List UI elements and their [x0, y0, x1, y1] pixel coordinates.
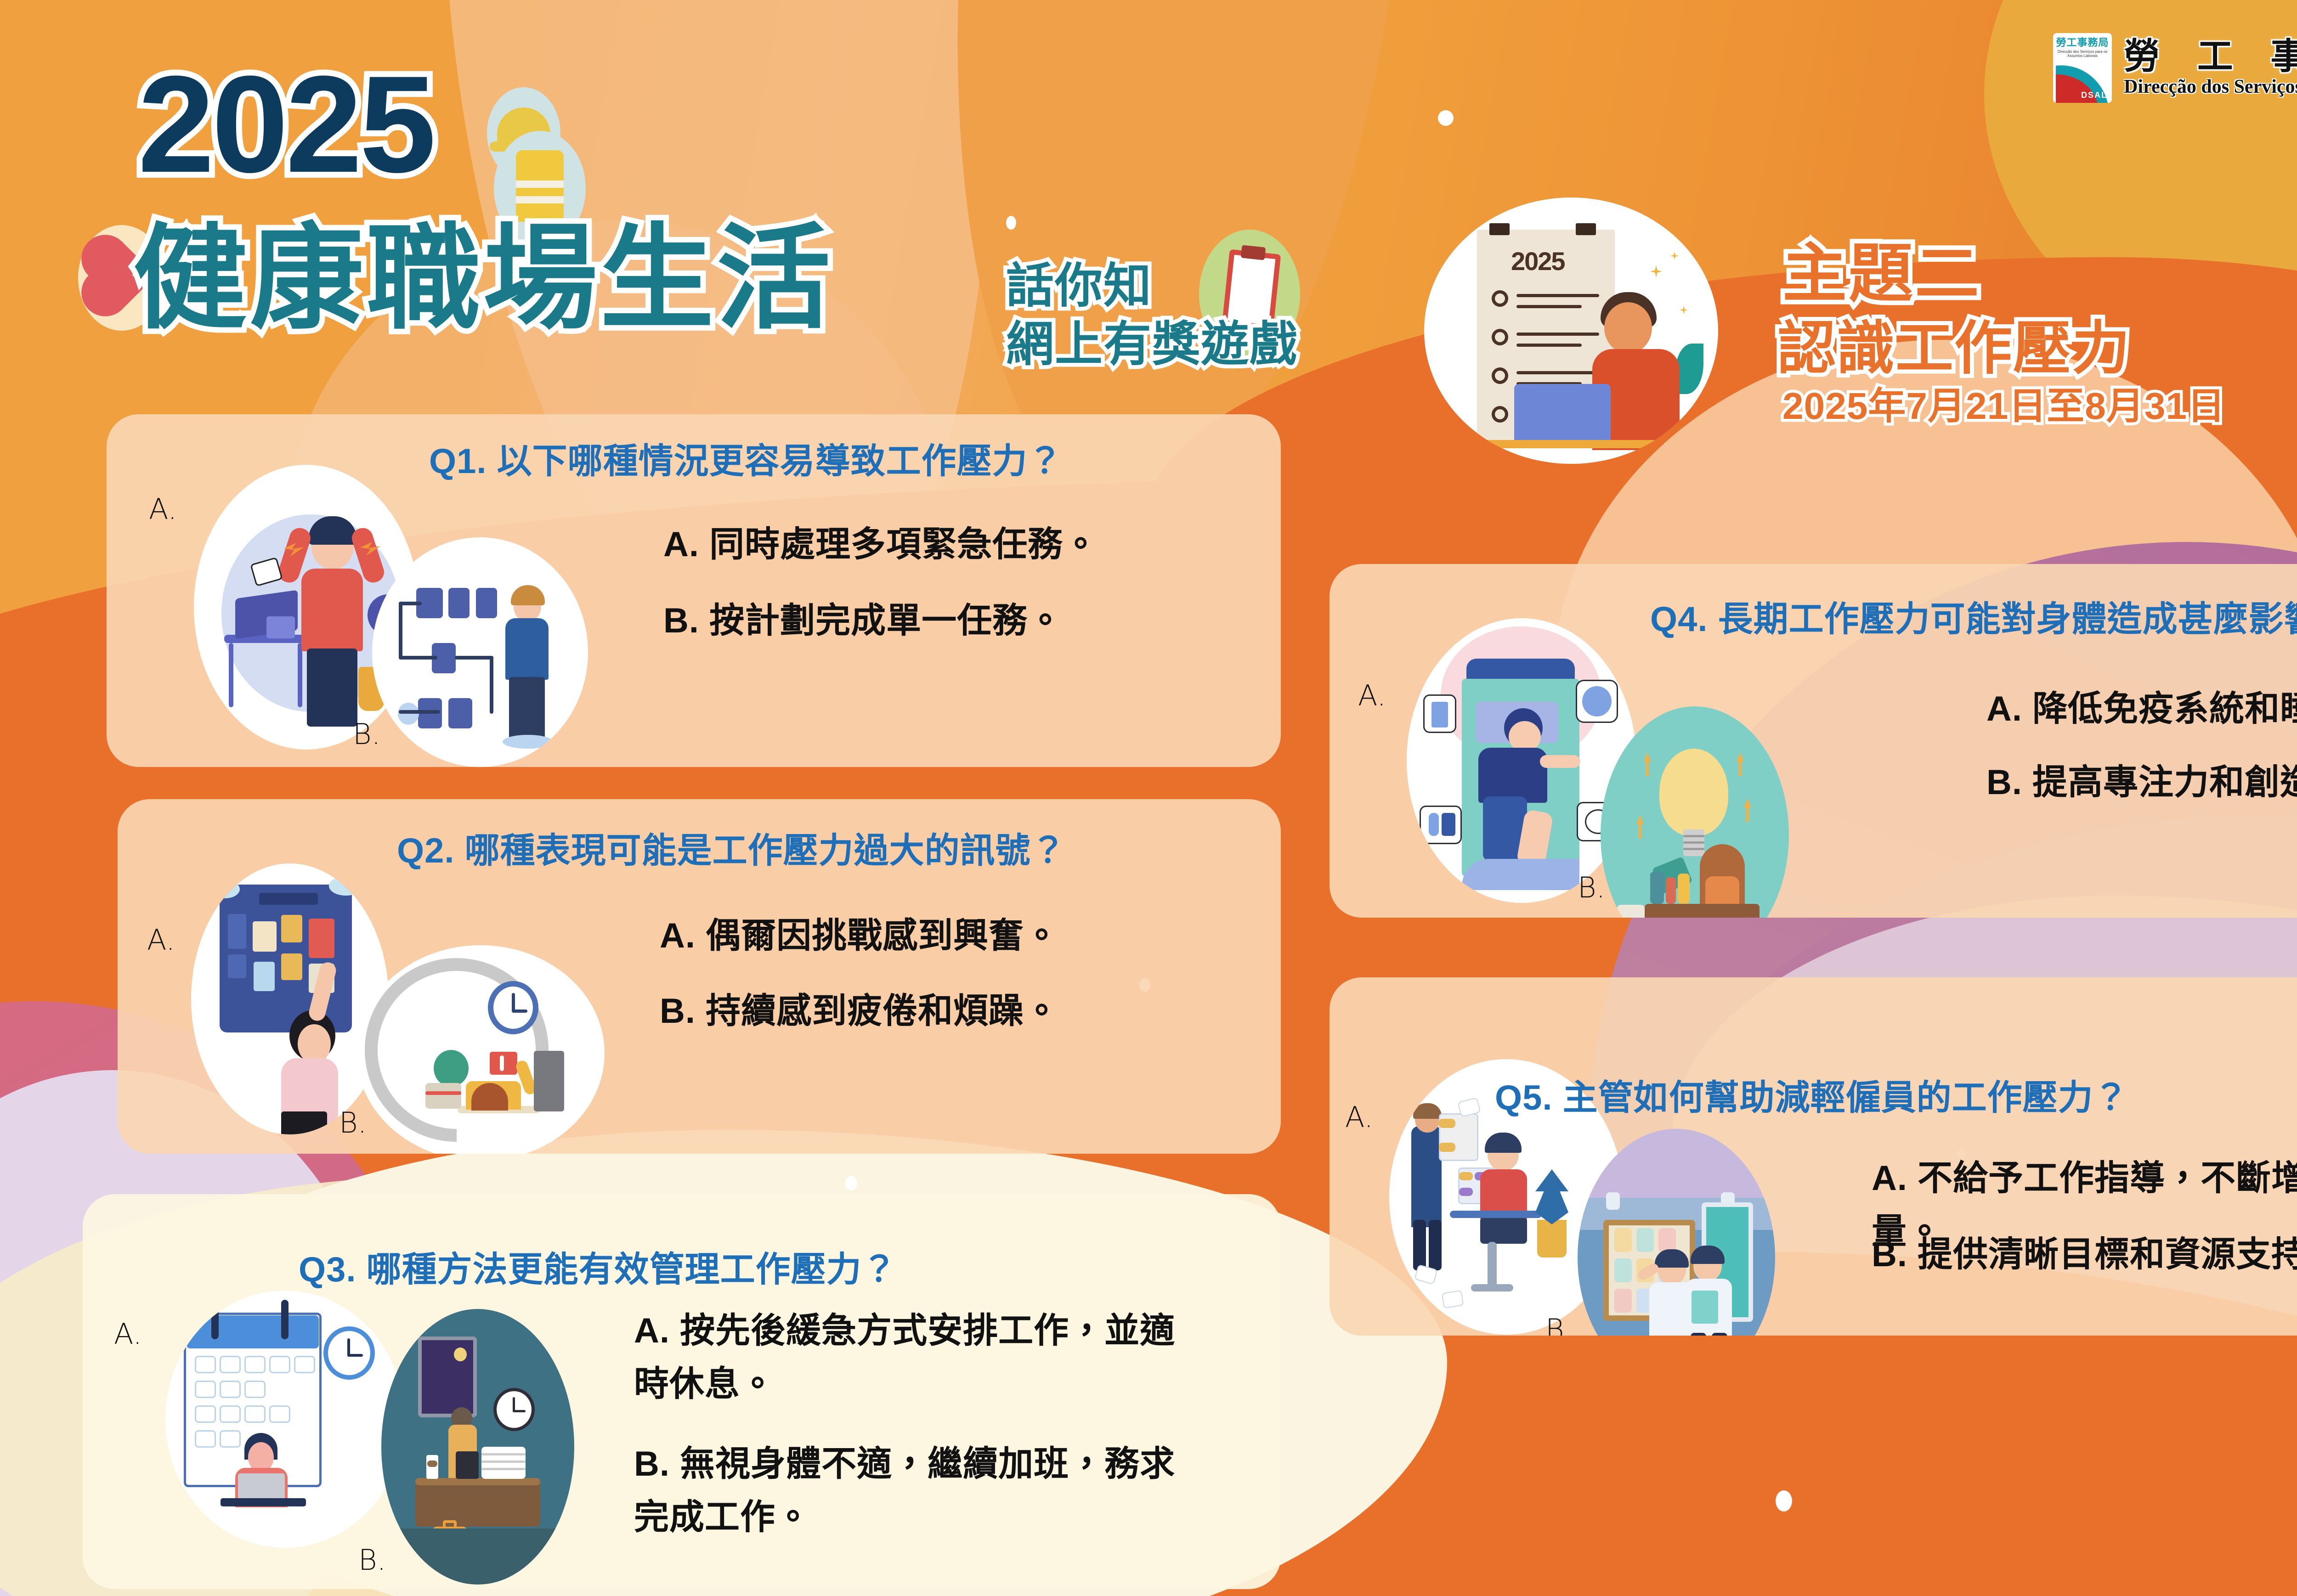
dsal-mark-pt: Direcção dos Serviços para os Assuntos L… — [2056, 50, 2109, 58]
q1-answer-a: A. 同時處理多項緊急任務。 — [663, 518, 1098, 571]
q1-option-b-illustration — [372, 537, 588, 767]
q3-answer-b: B. 無視身體不適，繼續加班，務求完成工作。 — [634, 1438, 1204, 1544]
q4-option-a-label: A. — [1358, 679, 1386, 712]
decor-dot — [1006, 216, 1016, 230]
q4-answer-b: B. 提高專注力和創造力。 — [1986, 756, 2297, 809]
year-title: 2025 — [138, 55, 433, 193]
q4-option-b-label: B. — [1578, 871, 1605, 904]
q2-option-a-label: A. — [147, 923, 175, 957]
question-card-q3: A. B. Q3. 哪種方法更能有效管理工作壓力？ A. 按先後緩急方式安排工作… — [83, 1194, 1281, 1589]
q3-option-b-label: B. — [358, 1543, 386, 1577]
q2-answer-b: B. 持續感到疲倦和煩躁。 — [660, 985, 1059, 1038]
checklist-year: 2025 — [1511, 246, 1565, 276]
dsal-mark-zh: 勞工事務局 — [2056, 38, 2109, 48]
theme-label: 主題二 — [1782, 239, 1981, 308]
dsal-logo-block: 勞工事務局 Direcção dos Serviços para os Assu… — [2053, 33, 2297, 103]
question-card-q1: A. B. Q1. 以下哪種情況更容易導致工作壓力？ A. 同時處理多項緊急任務… — [107, 414, 1281, 767]
title-subtitle-line2: 網上有獎遊戲 — [1006, 316, 1298, 374]
title-subtitle-line1: 話你知 — [1006, 257, 1298, 316]
q5-option-b-illustration — [1578, 1129, 1775, 1336]
q3-option-a-illustration — [165, 1291, 404, 1548]
q2-option-b-label: B. — [339, 1106, 367, 1139]
q2-option-a-illustration — [191, 863, 389, 1134]
q5-heading: Q5. 主管如何幫助減輕僱員的工作壓力？ — [1495, 1069, 2129, 1120]
dsal-logo-mark: 勞工事務局 Direcção dos Serviços para os Assu… — [2053, 33, 2112, 103]
poster-root: 勞工事務局 Direcção dos Serviços para os Assu… — [0, 0, 2297, 1596]
q4-heading: Q4. 長期工作壓力可能對身體造成甚麼影響？ — [1650, 591, 2297, 641]
decor-dot — [1776, 1490, 1792, 1511]
q5-option-b-label: B. — [1545, 1313, 1573, 1336]
dsal-logo-text: 勞 工 事 務 局 Direcção dos Serviços para os … — [2124, 38, 2297, 98]
hero-illustration: 2025 — [1424, 197, 1718, 464]
question-card-q2: A. B. Q2. 哪種表現可能是工作壓力過大的訊號？ A. 偶爾因挑戰感到興奮… — [118, 799, 1281, 1154]
q5-option-a-label: A. — [1345, 1100, 1373, 1134]
theme-name: 認識工作壓力 — [1778, 317, 2131, 381]
q4-answer-a: A. 降低免疫系統和睡眠品質。 — [1986, 682, 2297, 736]
q2-answer-a: A. 偶爾因挑戰感到興奮。 — [660, 909, 1059, 963]
decor-dot — [1438, 110, 1454, 126]
q2-option-b-illustration — [356, 945, 605, 1154]
q1-heading: Q1. 以下哪種情況更容易導致工作壓力？ — [429, 433, 1063, 483]
org-name-pt: Direcção dos Serviços para os Assuntos L… — [2124, 76, 2297, 98]
decor-dot — [845, 1176, 857, 1190]
title-subtitle: 話你知 網上有獎遊戲 — [1006, 257, 1298, 374]
theme-period: 2025年7月21日至8月31日 — [1782, 386, 2225, 427]
q5-answer-b: B. 提供清晰目標和資源支持。 — [1872, 1228, 2297, 1281]
q1-option-b-label: B. — [353, 717, 380, 751]
q2-heading: Q2. 哪種表現可能是工作壓力過大的訊號？ — [397, 822, 1066, 873]
q3-option-b-illustration — [381, 1309, 574, 1585]
q1-option-a-label: A. — [149, 492, 177, 526]
q1-answer-b: B. 按計劃完成單一任務。 — [663, 594, 1063, 648]
q3-option-a-label: A. — [114, 1317, 142, 1351]
question-card-q5: A. — [1330, 977, 2297, 1336]
main-title: 健康職場生活 — [133, 220, 833, 337]
dsal-abbr: DSAL — [2081, 90, 2107, 100]
org-name-zh: 勞 工 事 務 局 — [2124, 38, 2297, 74]
question-card-q4: A. B. Q4. 長期工作壓力可能對身體造成甚麼影響？ A. 降低免疫 — [1330, 564, 2297, 918]
q3-answer-a: A. 按先後緩急方式安排工作，並適時休息。 — [634, 1304, 1204, 1410]
q3-heading: Q3. 哪種方法更能有效管理工作壓力？ — [299, 1241, 897, 1291]
